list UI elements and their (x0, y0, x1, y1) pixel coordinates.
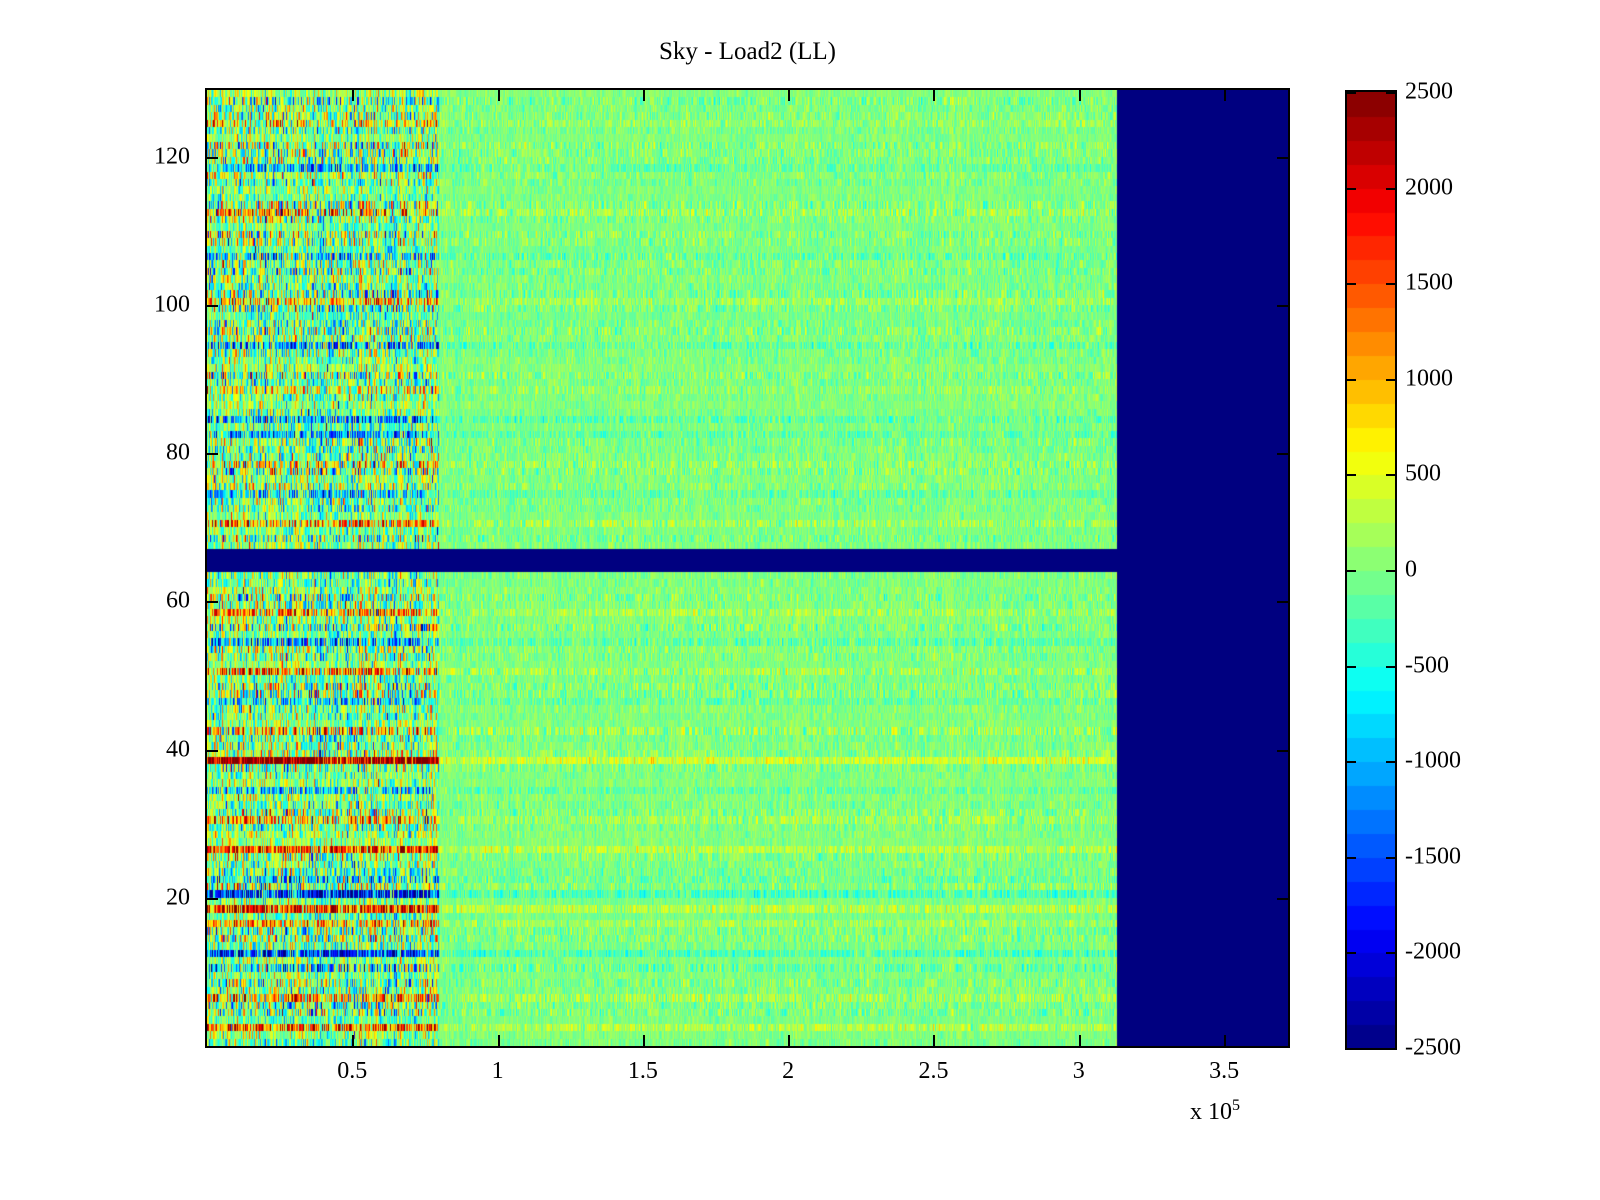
colorbar-tick-left-0 (1347, 92, 1356, 94)
y-tick-right-5 (1277, 157, 1288, 159)
x-tick-top-5 (1079, 90, 1081, 101)
colorbar-tick-left-7 (1347, 761, 1356, 763)
x-tick-3 (788, 1035, 790, 1046)
x-tick-label-0: 0.5 (337, 1058, 367, 1085)
x-tick-top-3 (788, 90, 790, 101)
colorbar-tick-right-0 (1386, 92, 1395, 94)
colorbar-label-5: 0 (1405, 557, 1417, 584)
y-tick-5 (207, 157, 218, 159)
x-tick-label-1: 1 (492, 1058, 504, 1085)
colorbar-tick-left-6 (1347, 666, 1356, 668)
x-exponent-base: x 10 (1190, 1099, 1232, 1125)
heatmap-image (207, 90, 1288, 1046)
colorbar-tick-right-7 (1386, 761, 1395, 763)
matlab-figure-window: Sky - Load2 (LL) 0.511.522.533.5 2040608… (0, 0, 1600, 1200)
x-tick-1 (498, 1035, 500, 1046)
colorbar-tick-left-5 (1347, 570, 1356, 572)
colorbar-tick-right-2 (1386, 283, 1395, 285)
y-tick-right-4 (1277, 305, 1288, 307)
x-tick-0 (352, 1035, 354, 1046)
colorbar-tick-left-3 (1347, 379, 1356, 381)
colorbar-tick-right-4 (1386, 474, 1395, 476)
colorbar-label-7: -1000 (1405, 748, 1461, 775)
colorbar-tick-left-1 (1347, 188, 1356, 190)
x-tick-label-2: 1.5 (628, 1058, 658, 1085)
colorbar-label-10: -2500 (1405, 1035, 1461, 1062)
colorbar-tick-left-9 (1347, 952, 1356, 954)
x-exponent-power: 5 (1232, 1097, 1240, 1114)
colorbar (1345, 90, 1397, 1050)
colorbar-tick-right-1 (1386, 188, 1395, 190)
x-tick-label-6: 3.5 (1209, 1058, 1239, 1085)
y-tick-label-3: 80 (0, 440, 190, 467)
x-tick-top-0 (352, 90, 354, 101)
colorbar-label-9: -2000 (1405, 939, 1461, 966)
x-tick-label-5: 3 (1073, 1058, 1085, 1085)
y-tick-label-0: 20 (0, 884, 190, 911)
colorbar-tick-left-2 (1347, 283, 1356, 285)
y-tick-label-5: 120 (0, 143, 190, 170)
colorbar-label-8: -1500 (1405, 843, 1461, 870)
page-title: Sky - Load2 (LL) (205, 38, 1290, 66)
heatmap-axes (205, 88, 1290, 1048)
colorbar-tick-right-5 (1386, 570, 1395, 572)
x-tick-2 (643, 1035, 645, 1046)
colorbar-tick-right-6 (1386, 666, 1395, 668)
colorbar-label-6: -500 (1405, 652, 1449, 679)
y-tick-label-4: 100 (0, 291, 190, 318)
x-tick-top-2 (643, 90, 645, 101)
colorbar-label-0: 2500 (1405, 79, 1453, 106)
y-tick-3 (207, 453, 218, 455)
y-tick-0 (207, 898, 218, 900)
y-tick-right-0 (1277, 898, 1288, 900)
x-tick-top-6 (1224, 90, 1226, 101)
colorbar-tick-right-9 (1386, 952, 1395, 954)
colorbar-label-3: 1000 (1405, 365, 1453, 392)
colorbar-tick-left-10 (1347, 1048, 1356, 1050)
y-tick-1 (207, 750, 218, 752)
x-tick-label-4: 2.5 (918, 1058, 948, 1085)
colorbar-label-1: 2000 (1405, 174, 1453, 201)
y-tick-label-2: 60 (0, 588, 190, 615)
y-tick-label-1: 40 (0, 736, 190, 763)
colorbar-tick-right-8 (1386, 857, 1395, 859)
y-tick-right-3 (1277, 453, 1288, 455)
y-tick-4 (207, 305, 218, 307)
x-tick-5 (1079, 1035, 1081, 1046)
colorbar-tick-left-8 (1347, 857, 1356, 859)
colorbar-tick-right-10 (1386, 1048, 1395, 1050)
y-tick-right-1 (1277, 750, 1288, 752)
x-tick-top-1 (498, 90, 500, 101)
x-axis-exponent-label: x 105 (1190, 1097, 1240, 1126)
x-tick-top-4 (933, 90, 935, 101)
colorbar-label-4: 500 (1405, 461, 1441, 488)
y-tick-right-2 (1277, 601, 1288, 603)
x-tick-label-3: 2 (782, 1058, 794, 1085)
colorbar-label-2: 1500 (1405, 270, 1453, 297)
colorbar-tick-right-3 (1386, 379, 1395, 381)
colorbar-tick-left-4 (1347, 474, 1356, 476)
x-tick-6 (1224, 1035, 1226, 1046)
x-tick-4 (933, 1035, 935, 1046)
y-tick-2 (207, 601, 218, 603)
